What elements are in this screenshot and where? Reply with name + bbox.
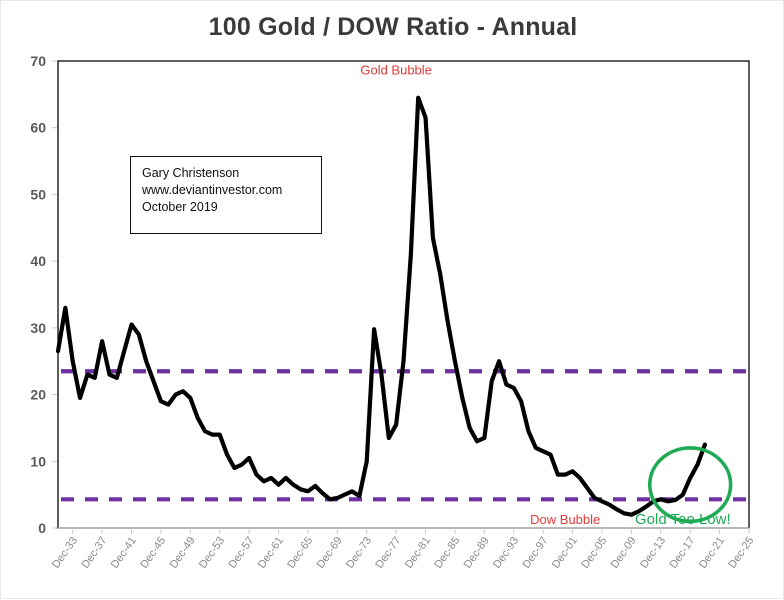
y-axis-ticks [52,61,58,528]
x-tick-label-Dec-53: Dec-53 [197,535,227,571]
x-tick-label-Dec-81: Dec-81 [403,535,433,571]
x-tick-label-Dec-45: Dec-45 [138,535,168,571]
credit-website: www.deviantinvestor.com [142,182,321,199]
x-tick-label-Dec-25: Dec-25 [726,535,756,571]
x-tick-label-Dec-77: Dec-77 [373,535,403,571]
y-tick-label-30: 30 [30,320,46,336]
x-tick-label-Dec-13: Dec-13 [638,535,668,571]
y-tick-label-20: 20 [30,387,46,403]
x-tick-label-Dec-57: Dec-57 [226,535,256,571]
x-tick-label-Dec-61: Dec-61 [256,535,286,571]
x-tick-label-Dec-21: Dec-21 [697,535,727,571]
x-tick-label-Dec-69: Dec-69 [315,535,345,571]
chart-plot-area: 010203040506070 Dec-33Dec-37Dec-41Dec-45… [1,1,784,600]
annotation-gold-too-low: Gold Too Low! [635,511,731,528]
x-axis-ticks [58,528,749,534]
y-axis: 010203040506070 [30,53,46,536]
x-tick-label-Dec-09: Dec-09 [609,535,639,571]
x-tick-label-Dec-97: Dec-97 [520,535,550,571]
x-tick-label-Dec-89: Dec-89 [462,535,492,571]
y-tick-label-50: 50 [30,186,46,202]
y-tick-label-0: 0 [38,520,46,536]
y-tick-label-70: 70 [30,53,46,69]
x-tick-label-Dec-05: Dec-05 [579,535,609,571]
credit-date: October 2019 [142,199,321,216]
x-tick-label-Dec-93: Dec-93 [491,535,521,571]
y-tick-label-60: 60 [30,120,46,136]
y-tick-label-10: 10 [30,453,46,469]
annotation-dow-bubble: Dow Bubble [530,512,600,527]
x-tick-label-Dec-41: Dec-41 [109,535,139,571]
x-tick-label-Dec-01: Dec-01 [550,535,580,571]
x-tick-label-Dec-17: Dec-17 [667,535,697,571]
x-tick-label-Dec-37: Dec-37 [79,535,109,571]
annotation-gold-bubble: Gold Bubble [360,62,432,77]
chart-container: 100 Gold / DOW Ratio - Annual 0102030405… [0,0,784,599]
x-tick-label-Dec-85: Dec-85 [432,535,462,571]
x-tick-label-Dec-49: Dec-49 [168,535,198,571]
credit-author: Gary Christenson [142,165,321,182]
x-tick-label-Dec-33: Dec-33 [50,535,80,571]
x-tick-label-Dec-65: Dec-65 [285,535,315,571]
attribution-box: Gary Christenson www.deviantinvestor.com… [130,156,322,234]
x-axis: Dec-33Dec-37Dec-41Dec-45Dec-49Dec-53Dec-… [50,535,756,571]
plot-frame [58,61,749,528]
x-tick-label-Dec-73: Dec-73 [344,535,374,571]
y-tick-label-40: 40 [30,253,46,269]
reference-lines [61,371,747,499]
